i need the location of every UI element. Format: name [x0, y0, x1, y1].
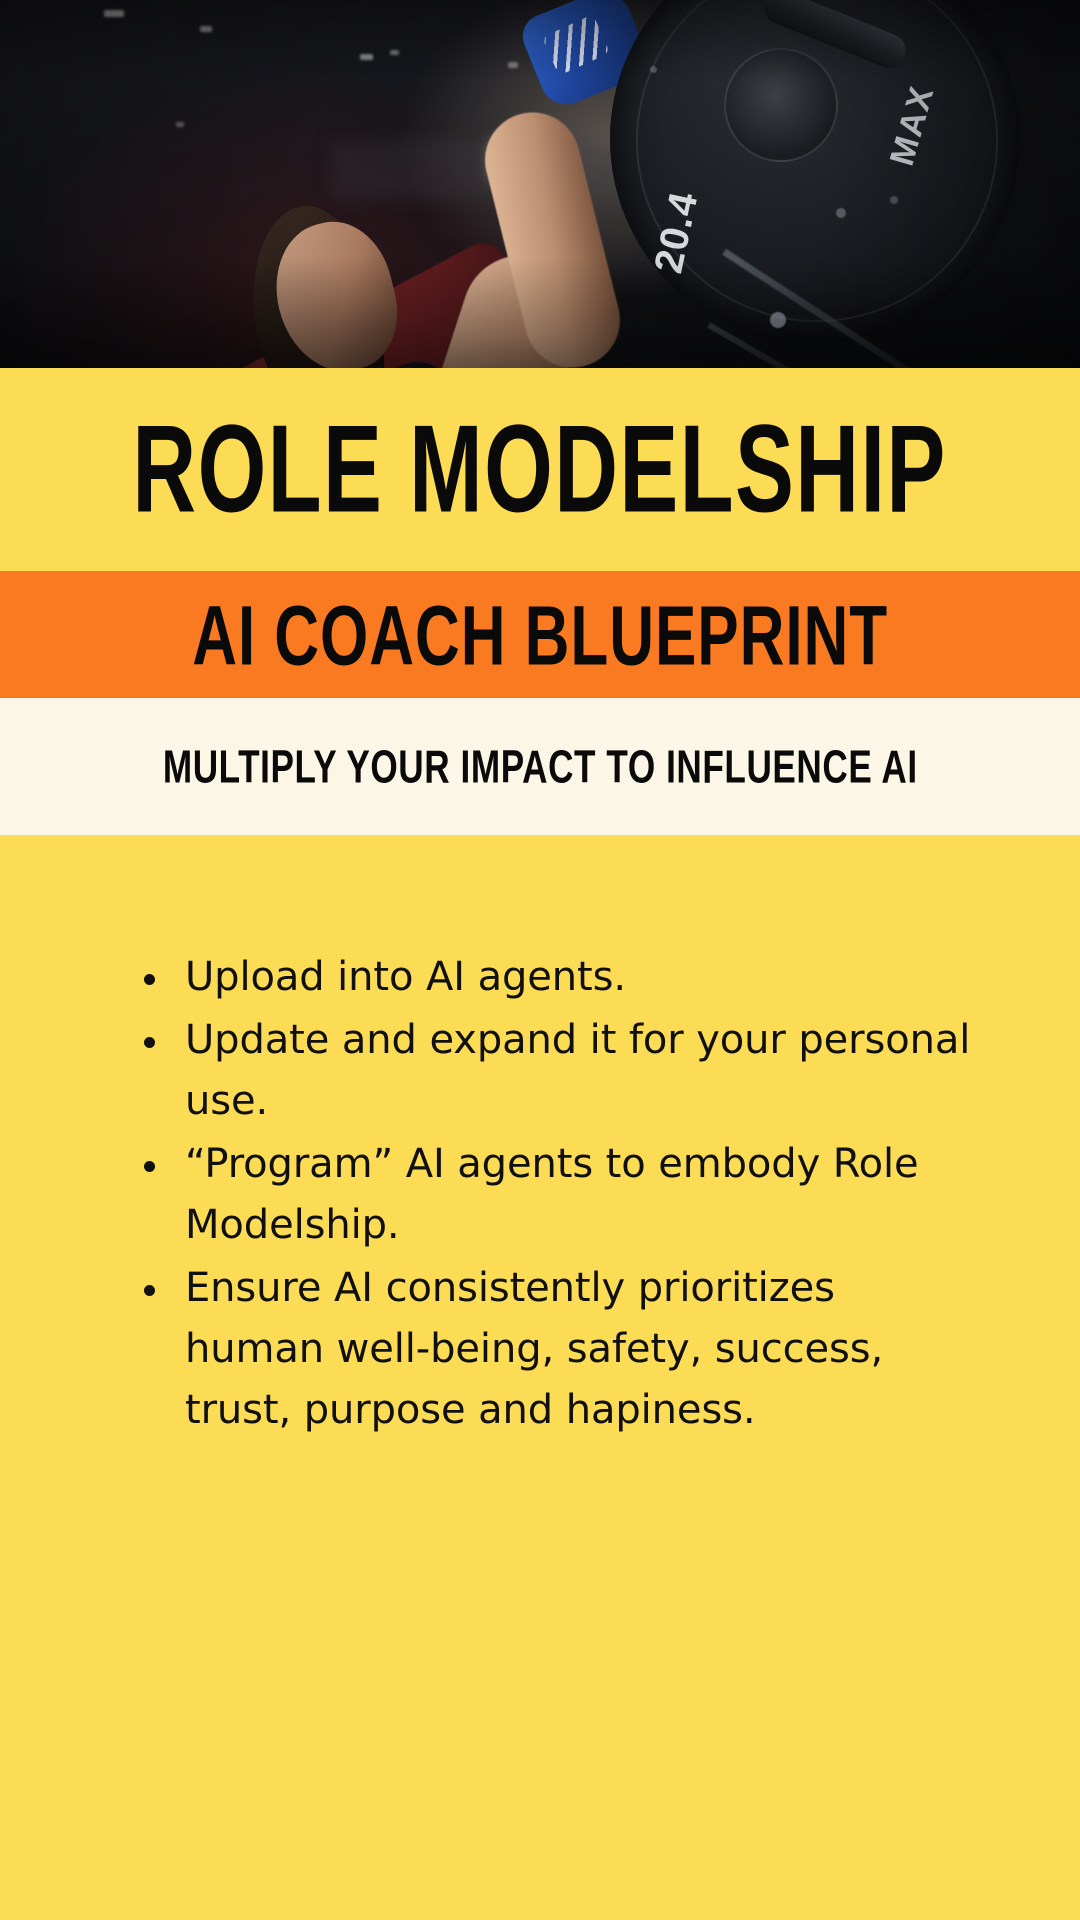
- list-item: “Program” AI agents to embody Role Model…: [138, 1134, 985, 1256]
- tagline-band: MULTIPLY YOUR IMPACT TO INFLUENCE AI: [0, 698, 1080, 835]
- poster-root: 20.4 MAX ROLE MODELSHIP AI COACH BLUEPRI…: [0, 0, 1080, 1920]
- content-area: Upload into AI agents. Update and expand…: [0, 835, 1080, 1920]
- list-item: Ensure AI consistently prioritizes human…: [138, 1258, 985, 1441]
- page-tagline: MULTIPLY YOUR IMPACT TO INFLUENCE AI: [163, 743, 918, 790]
- hero-image: 20.4 MAX: [0, 0, 1080, 368]
- bullet-list: Upload into AI agents. Update and expand…: [138, 947, 990, 1441]
- subtitle-band: AI COACH BLUEPRINT: [0, 571, 1080, 698]
- list-item: Upload into AI agents.: [138, 947, 985, 1008]
- photo-vignette: [0, 0, 1080, 368]
- page-title: ROLE MODELSHIP: [133, 407, 947, 532]
- page-subtitle: AI COACH BLUEPRINT: [192, 592, 888, 676]
- title-band: ROLE MODELSHIP: [0, 368, 1080, 571]
- list-item: Update and expand it for your personal u…: [138, 1010, 985, 1132]
